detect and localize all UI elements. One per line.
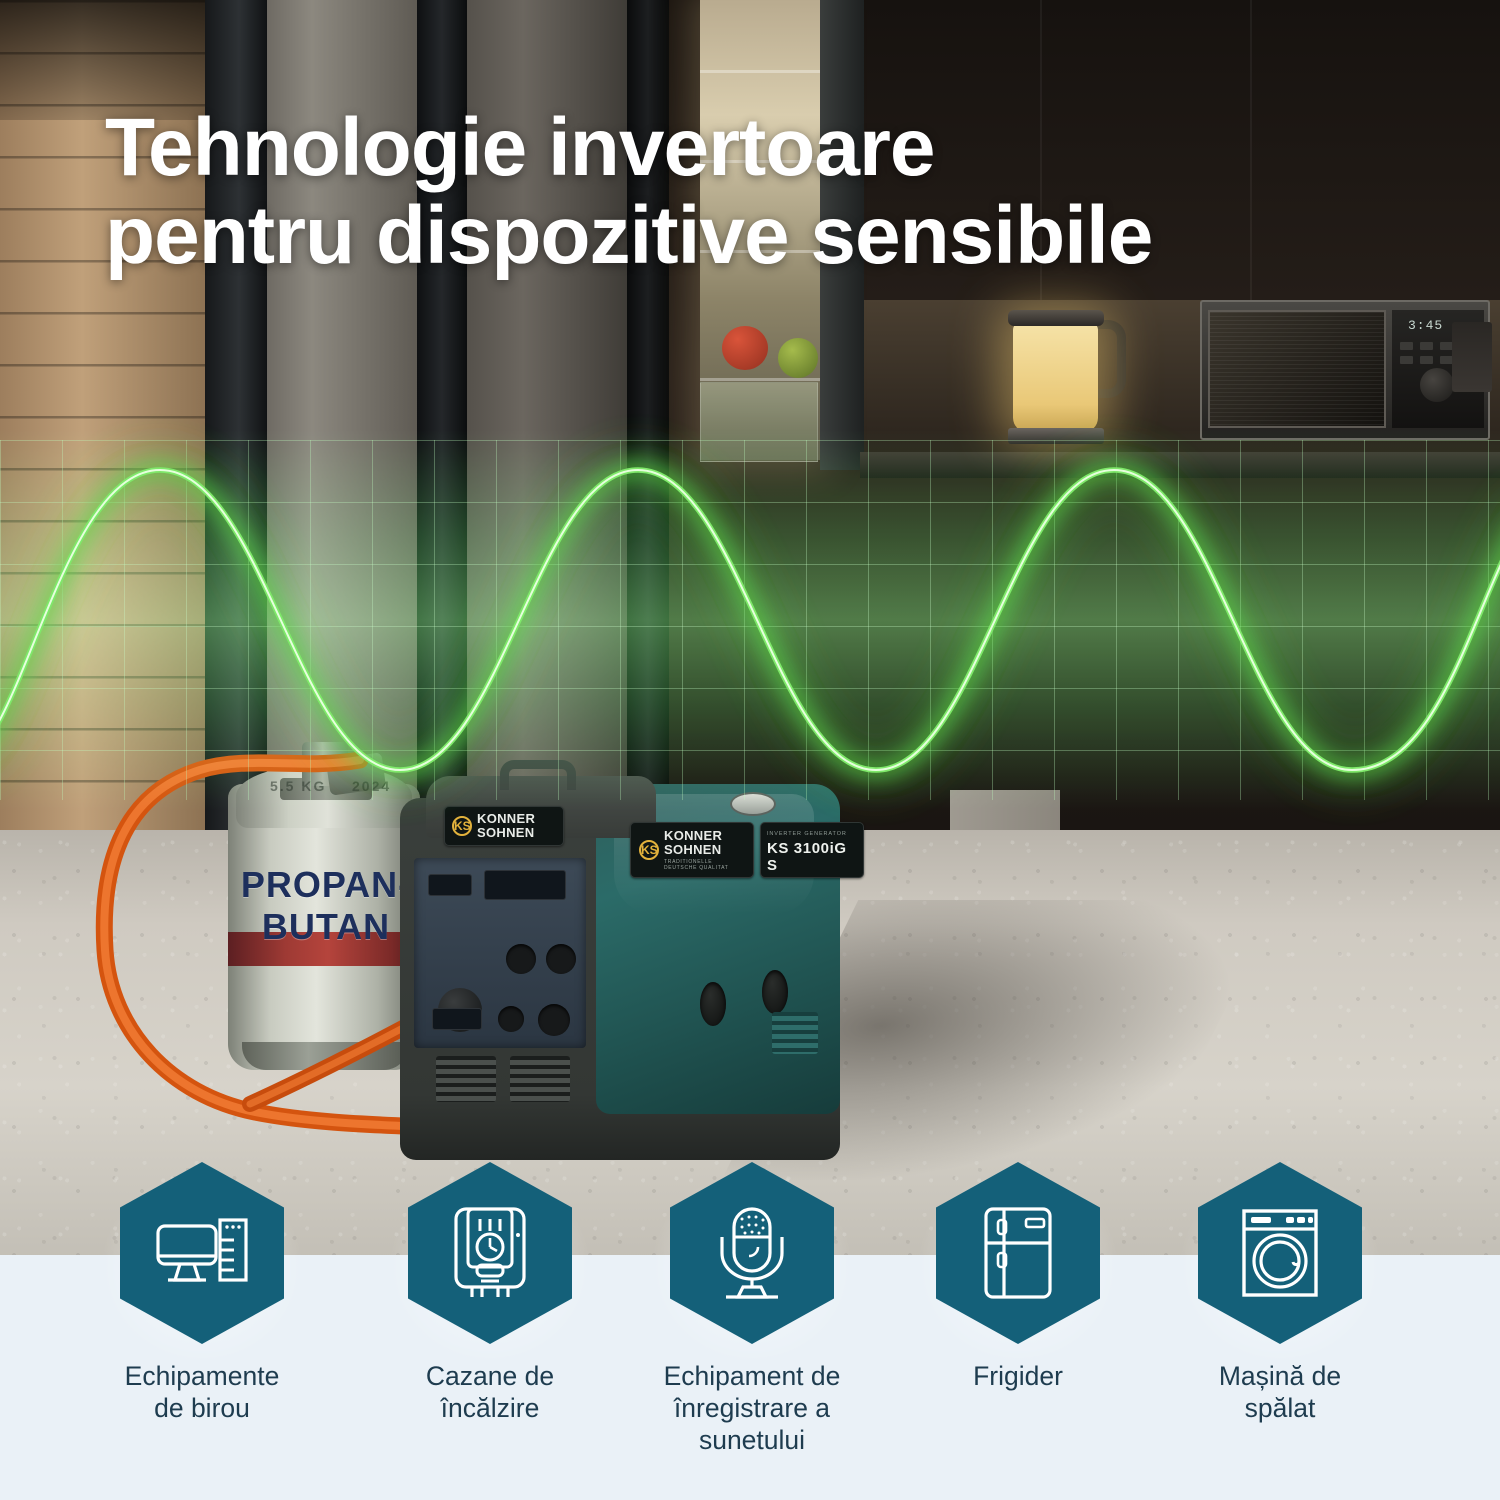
feature-caption-3: Echipament de înregistrare a sunetului: [618, 1361, 886, 1456]
generator-model-number: KS 3100iG S: [767, 840, 857, 874]
feature-heating-boilers[interactable]: Cazane de încălzire: [356, 1162, 624, 1425]
tomato: [722, 326, 768, 370]
washing-machine-icon: [1236, 1205, 1324, 1301]
electric-kettle: [1013, 322, 1098, 432]
kettle-lid: [1008, 310, 1104, 326]
feature-caption-2: Cazane de încălzire: [356, 1361, 624, 1425]
cylinder-brand-text: PROPAN-BUTAN: [226, 864, 426, 948]
headline-line-2: pentru dispozitive sensibile: [105, 192, 1405, 280]
cylinder-year-text: 2024: [352, 778, 391, 794]
cylinder-weight-text: 5.5 KG: [270, 778, 326, 794]
feature-washing-machine[interactable]: Mașină de spălat: [1146, 1162, 1414, 1425]
promo-banner: 3:45 5.5 KG 2024 PROPAN-BUTAN: [0, 0, 1500, 1500]
desktop-computer-icon: [154, 1214, 250, 1292]
feature-office-equipment[interactable]: Echipamente de birou: [68, 1162, 336, 1425]
feature-sound-recording[interactable]: Echipament de înregistrare a sunetului: [618, 1162, 886, 1456]
ac-socket-2: [546, 944, 576, 974]
feature-row: Echipamente de birou Cazane de încălzire: [0, 1162, 1500, 1500]
generator-brand-nameplate: KS KONNER SOHNEN TRADITIONELLE DEUTSCHE …: [630, 822, 754, 878]
generator-vent-right: [510, 1056, 570, 1102]
kettle-base: [1008, 428, 1104, 444]
ac-socket-1: [506, 944, 536, 974]
generator-carry-handle: [500, 760, 576, 790]
inverter-generator: KS KONNER SOHNEN KS KONNER SOHNEN TRADIT…: [400, 760, 840, 1160]
headline: Tehnologie invertoare pentru dispozitive…: [105, 104, 1405, 279]
generator-vent-left: [436, 1056, 496, 1102]
scene-photo: 3:45 5.5 KG 2024 PROPAN-BUTAN: [0, 0, 1500, 1258]
side-latch-1: [700, 982, 726, 1026]
feature-refrigerator[interactable]: Frigider: [884, 1162, 1152, 1393]
microphone-icon: [708, 1205, 796, 1301]
apple: [778, 338, 818, 378]
crisper-drawer: [700, 382, 818, 462]
refrigerator-icon: [978, 1205, 1058, 1301]
water-heater-boiler-icon: [450, 1205, 530, 1301]
generator-control-panel: [414, 858, 586, 1048]
usb-port-cluster: [538, 1004, 570, 1036]
feature-caption-5: Mașină de spălat: [1146, 1361, 1414, 1425]
fuel-cap: [730, 792, 776, 816]
microwave-door-window: [1208, 310, 1386, 428]
microwave-display: 3:45: [1408, 318, 1443, 333]
headline-line-1: Tehnologie invertoare: [105, 104, 1405, 192]
panel-display-plate: [484, 870, 566, 900]
dc-socket: [498, 1006, 524, 1032]
microwave-dial: [1420, 368, 1454, 402]
ground-terminal-plate: [432, 1008, 482, 1030]
countertop: [860, 452, 1500, 478]
side-latch-2: [762, 970, 788, 1014]
konner-sohnen-logo-mark-2: KS: [639, 840, 659, 860]
generator-model-nameplate: INVERTER GENERATOR KS 3100iG S: [760, 822, 864, 878]
generator-side-vent: [772, 1012, 818, 1054]
propane-gas-cylinder: 5.5 KG 2024 PROPAN-BUTAN: [228, 742, 420, 1070]
panel-switch-plate: [428, 874, 472, 896]
konner-sohnen-logo-mark: KS: [452, 816, 472, 836]
feature-caption-1: Echipamente de birou: [68, 1361, 336, 1425]
nameplate-kicker: INVERTER GENERATOR: [767, 831, 857, 837]
generator-top-brand-plate: KS KONNER SOHNEN: [444, 806, 564, 846]
utensil-holder: [1452, 322, 1492, 392]
